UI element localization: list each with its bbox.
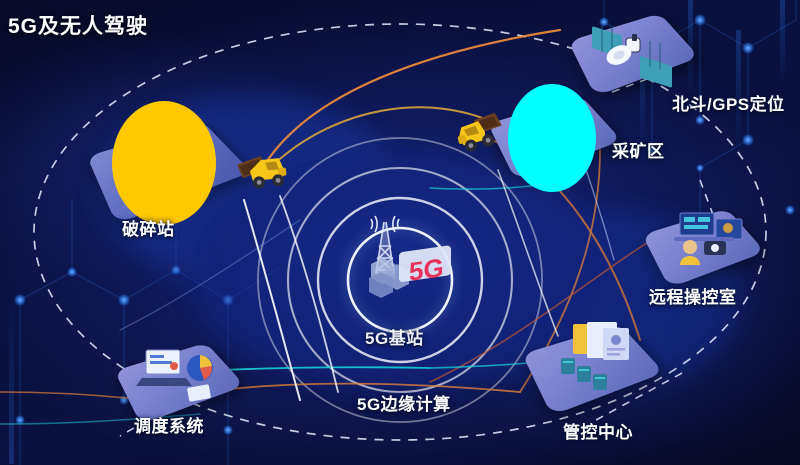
label-remote-room: 远程操控室 <box>649 283 737 308</box>
mining-truck-left[interactable] <box>230 145 294 197</box>
server-rack-icon <box>533 320 649 406</box>
page-title: 5G及无人驾驶 <box>8 10 148 40</box>
control-monitor-icon <box>652 205 752 281</box>
redaction-oval-yellow <box>112 101 216 225</box>
diagram-canvas: 5G 5G及无人驾驶 破碎站 北斗/GPS定位 采矿区 <box>0 0 800 465</box>
cell-tower-icon: 5G <box>345 212 457 312</box>
5g-base-station-node[interactable]: 5G <box>345 212 457 312</box>
label-dispatch: 调度系统 <box>134 412 204 437</box>
redaction-oval-cyan <box>508 84 596 192</box>
mining-truck-icon <box>230 145 294 197</box>
remote-control-node[interactable] <box>652 205 752 281</box>
label-edge-compute: 5G边缘计算 <box>357 390 451 415</box>
label-base-station: 5G基站 <box>365 324 424 349</box>
label-beidou-gps: 北斗/GPS定位 <box>672 90 785 115</box>
5g-logo-block-icon: 5G <box>399 245 451 287</box>
control-center-node[interactable] <box>533 320 649 406</box>
label-crusher: 破碎站 <box>122 215 175 240</box>
label-control: 管控中心 <box>563 418 633 443</box>
satellite-node[interactable] <box>578 10 686 88</box>
svg-text:5G: 5G <box>409 252 444 287</box>
label-mining-area: 采矿区 <box>612 137 665 162</box>
dispatch-system-node[interactable] <box>124 340 232 416</box>
laptop-chart-icon <box>124 340 232 416</box>
satellite-icon <box>578 10 686 88</box>
